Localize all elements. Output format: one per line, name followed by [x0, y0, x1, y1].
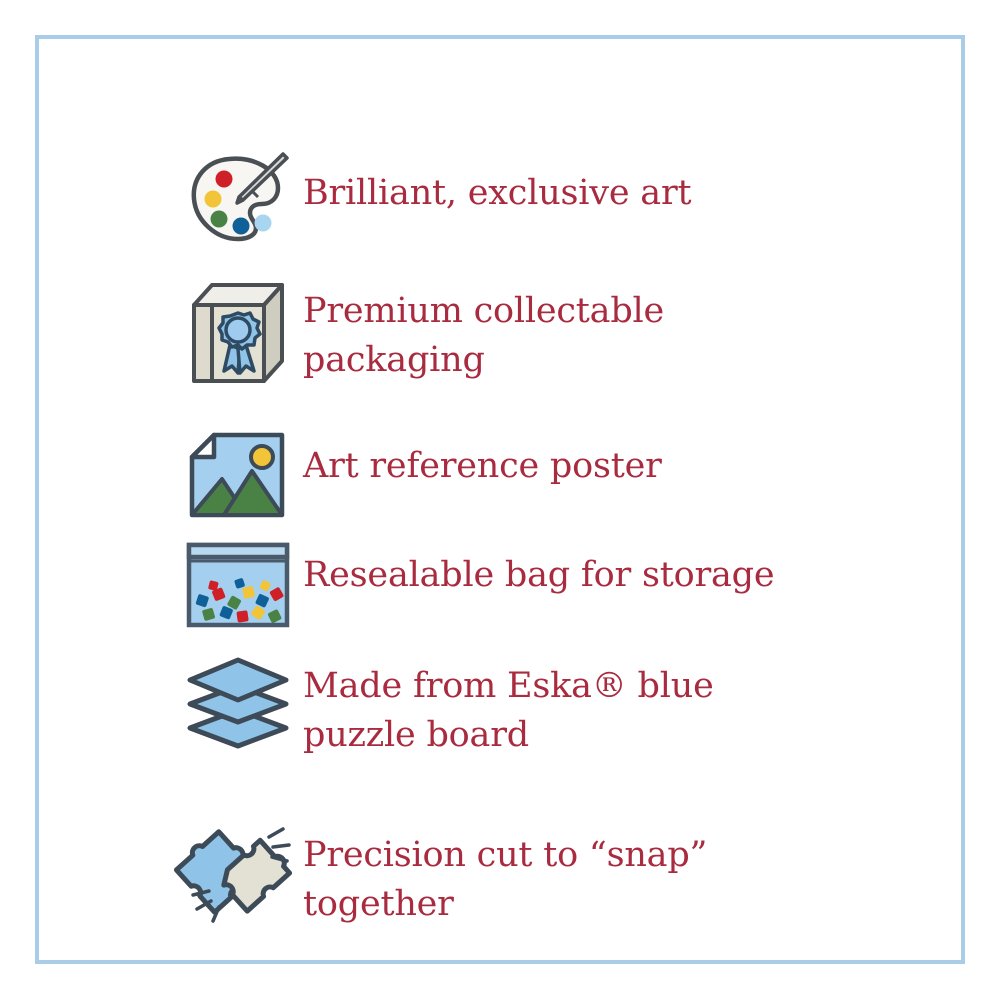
- list-item: Brilliant, exclusive art: [179, 151, 691, 247]
- label-cell: Premium collectable packaging: [297, 279, 664, 385]
- feature-label: Brilliant, exclusive art: [303, 173, 691, 213]
- bordered-frame: Brilliant, exclusive art: [35, 35, 965, 964]
- feature-panel-page: Brilliant, exclusive art: [0, 0, 1000, 1000]
- list-item: Made from Eska® blue puzzle board: [179, 654, 714, 760]
- feature-list: Brilliant, exclusive art: [39, 39, 961, 960]
- label-cell: Precision cut to “snap” together: [297, 811, 707, 929]
- puzzle-snap-icon: [179, 811, 297, 931]
- poster-image-icon: [179, 429, 297, 523]
- label-cell: Resealable bag for storage: [297, 539, 774, 600]
- feature-label: Art reference poster: [303, 446, 662, 486]
- list-item: Premium collectable packaging: [179, 279, 664, 389]
- collectable-box-icon: [179, 279, 297, 389]
- label-cell: Made from Eska® blue puzzle board: [297, 654, 714, 760]
- feature-label: Premium collectable packaging: [303, 291, 664, 380]
- list-item: Resealable bag for storage: [179, 539, 774, 631]
- feature-label: Made from Eska® blue puzzle board: [303, 666, 714, 755]
- list-item: Art reference poster: [179, 429, 662, 523]
- label-cell: Brilliant, exclusive art: [297, 151, 691, 218]
- feature-label: Precision cut to “snap” together: [303, 835, 707, 924]
- resealable-bag-icon: [179, 539, 297, 631]
- feature-label: Resealable bag for storage: [303, 555, 774, 595]
- paint-palette-icon: [179, 151, 297, 247]
- list-item: Precision cut to “snap” together: [179, 811, 707, 931]
- layers-board-icon: [179, 654, 297, 750]
- label-cell: Art reference poster: [297, 429, 662, 491]
